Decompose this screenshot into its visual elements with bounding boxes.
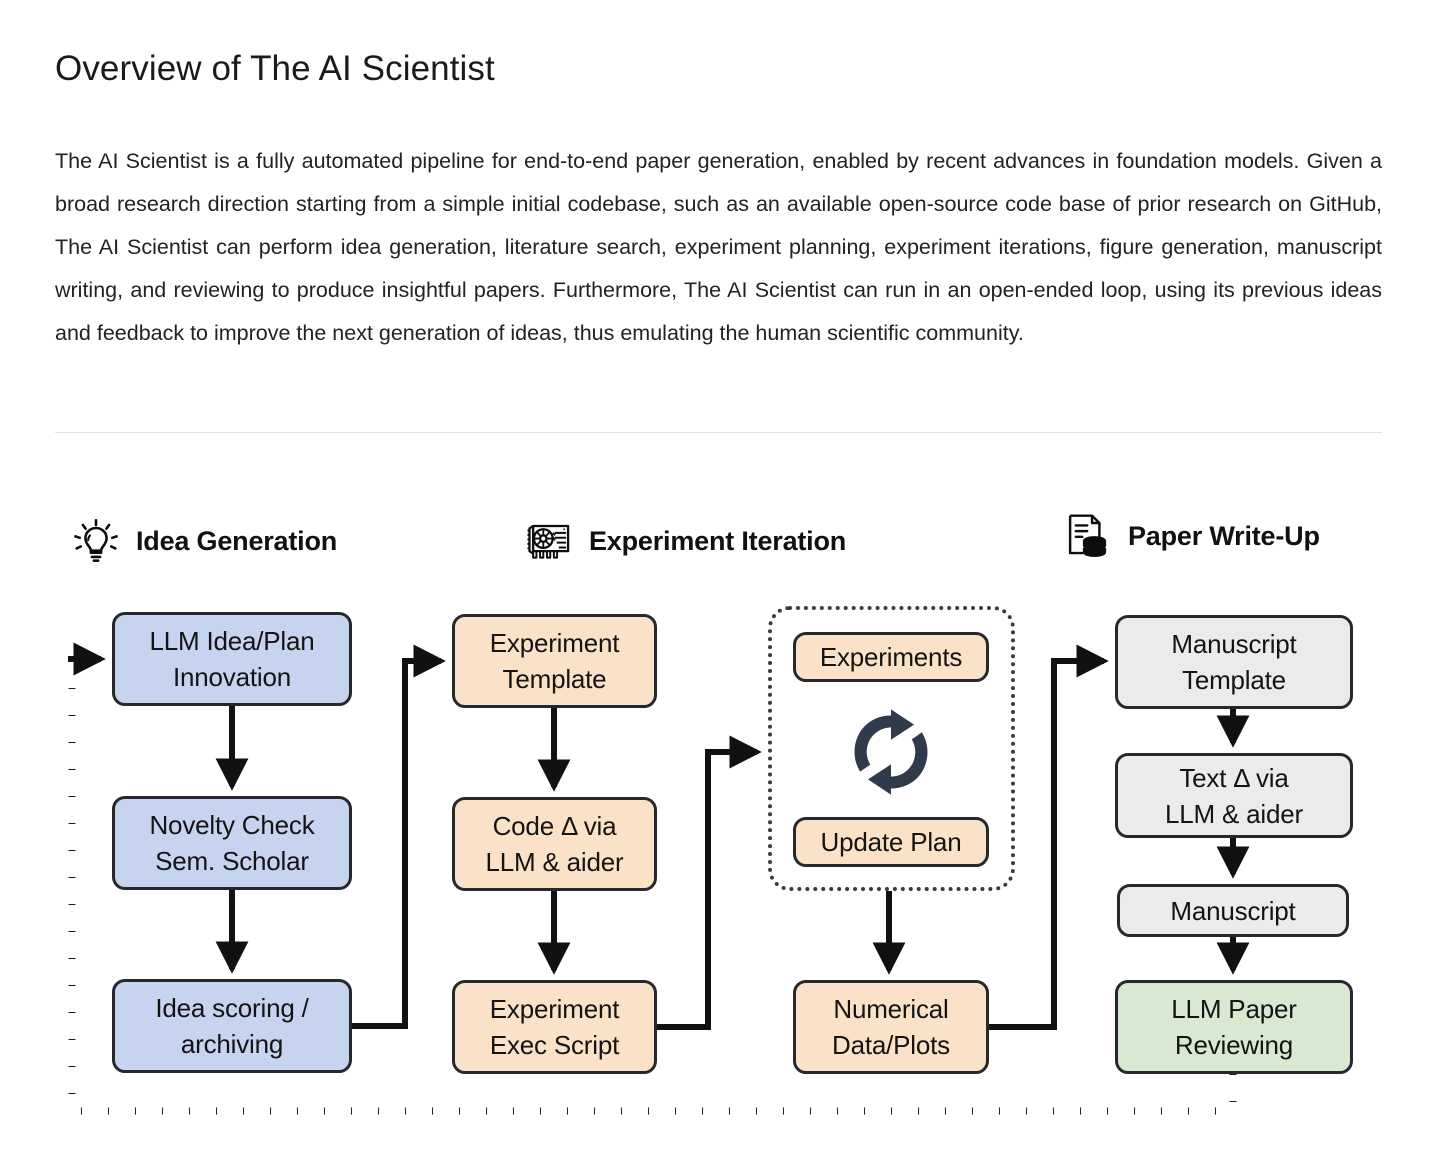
node-line-2: LLM & aider (486, 844, 624, 880)
node-line-1: Experiment (490, 991, 620, 1027)
pipeline-diagram: Idea Generation Experiment Ite (0, 0, 1450, 1160)
node-line-2: Sem. Scholar (149, 843, 314, 879)
column-header-label: Idea Generation (136, 526, 337, 557)
refresh-cycle-icon (843, 704, 939, 800)
node-line-2: Data/Plots (832, 1027, 950, 1063)
page-root: Overview of The AI Scientist The AI Scie… (0, 0, 1450, 1160)
node-line-1: Manuscript (1170, 893, 1295, 929)
column-header-experiment-iteration: Experiment Iteration (523, 513, 846, 569)
node-manuscript[interactable]: Manuscript (1117, 884, 1349, 937)
node-manuscript-template[interactable]: Manuscript Template (1115, 615, 1353, 709)
column-header-label: Paper Write-Up (1128, 521, 1320, 552)
column-header-label: Experiment Iteration (589, 526, 846, 557)
gpu-card-icon (523, 515, 575, 567)
node-line-2: LLM & aider (1165, 796, 1303, 832)
node-code-delta-via-llm-aider[interactable]: Code Δ via LLM & aider (452, 797, 657, 891)
node-line-2: Reviewing (1171, 1027, 1296, 1063)
node-experiment-exec-script[interactable]: Experiment Exec Script (452, 980, 657, 1074)
node-line-1: Update Plan (821, 824, 962, 860)
lightbulb-icon (70, 515, 122, 567)
node-novelty-check-sem-scholar[interactable]: Novelty Check Sem. Scholar (112, 796, 352, 890)
node-line-2: archiving (155, 1026, 308, 1062)
node-line-2: Exec Script (490, 1027, 620, 1063)
node-experiments[interactable]: Experiments (793, 632, 989, 682)
node-line-1: Numerical (832, 991, 950, 1027)
node-numerical-data-plots[interactable]: Numerical Data/Plots (793, 980, 989, 1074)
node-line-1: Manuscript (1171, 626, 1296, 662)
node-line-1: LLM Paper (1171, 991, 1296, 1027)
node-line-2: Template (1171, 662, 1296, 698)
node-line-2: Innovation (149, 659, 314, 695)
node-llm-idea-plan-innovation[interactable]: LLM Idea/Plan Innovation (112, 612, 352, 706)
node-line-2: Template (490, 661, 620, 697)
node-experiment-template[interactable]: Experiment Template (452, 614, 657, 708)
node-line-1: Code Δ via (486, 808, 624, 844)
document-database-icon (1062, 510, 1114, 562)
node-line-1: Novelty Check (149, 807, 314, 843)
node-text-delta-via-llm-aider[interactable]: Text Δ via LLM & aider (1115, 753, 1353, 838)
node-line-1: Text Δ via (1165, 760, 1303, 796)
node-line-1: Idea scoring / (155, 990, 308, 1026)
node-line-1: Experiments (820, 639, 962, 675)
column-header-idea-generation: Idea Generation (70, 513, 337, 569)
node-update-plan[interactable]: Update Plan (793, 817, 989, 867)
node-line-1: LLM Idea/Plan (149, 623, 314, 659)
node-llm-paper-reviewing[interactable]: LLM Paper Reviewing (1115, 980, 1353, 1074)
column-header-paper-write-up: Paper Write-Up (1062, 508, 1320, 564)
node-idea-scoring-archiving[interactable]: Idea scoring / archiving (112, 979, 352, 1073)
node-line-1: Experiment (490, 625, 620, 661)
